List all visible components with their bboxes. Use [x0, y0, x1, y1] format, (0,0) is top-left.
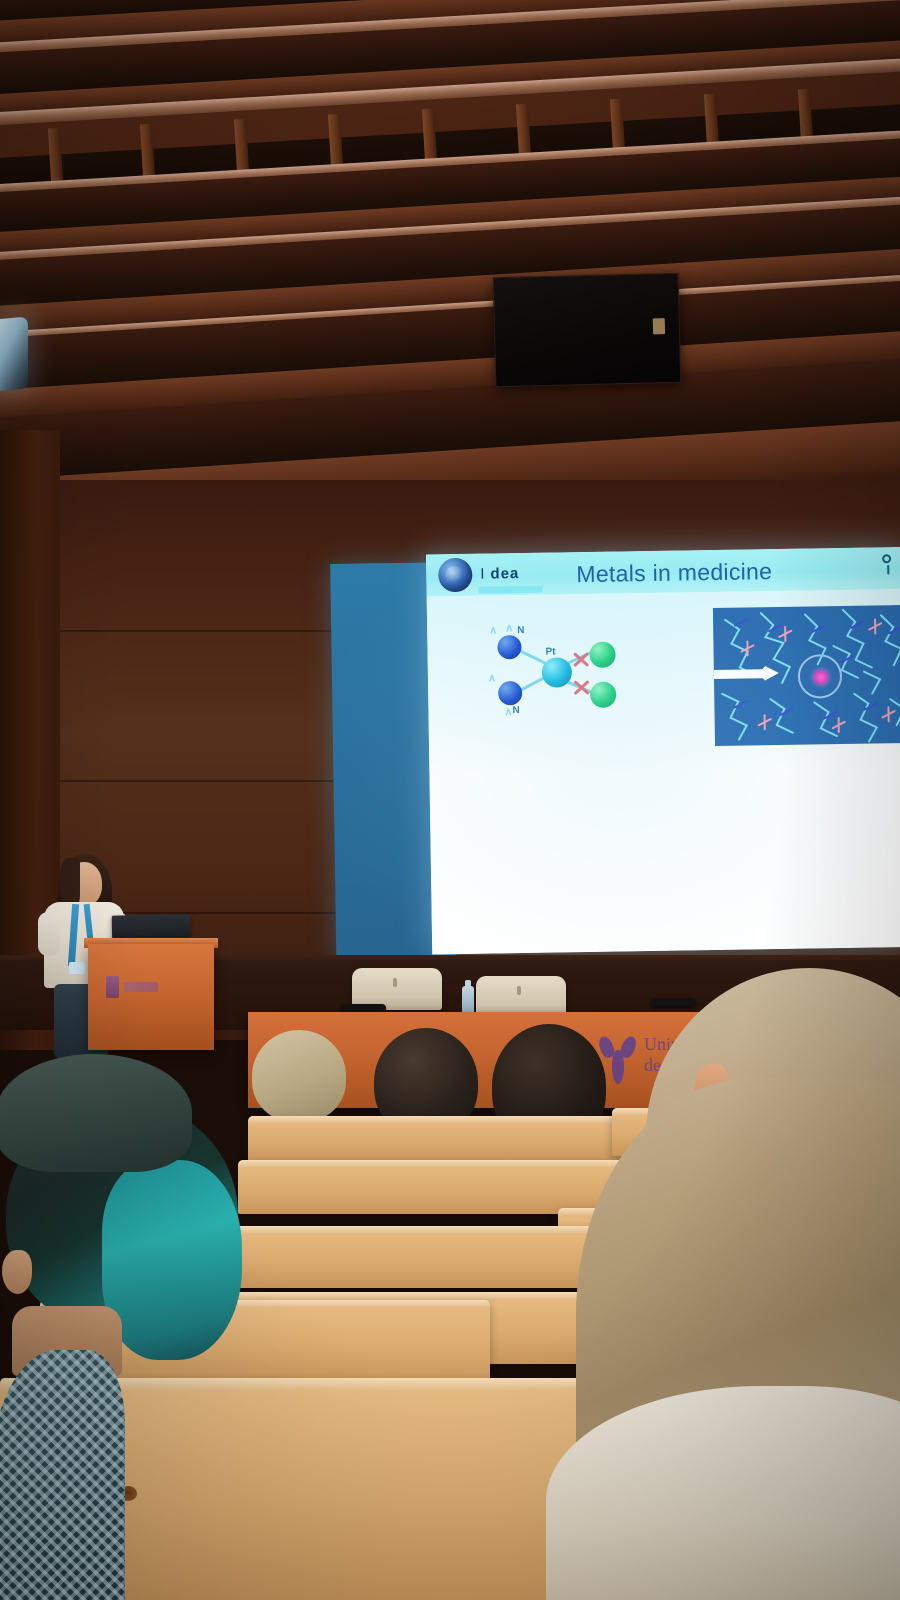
patterned-garment-attendee	[0, 1350, 125, 1600]
ceiling-loudspeaker	[493, 273, 682, 388]
pin-marker-icon	[882, 554, 891, 563]
chloride-atom-2	[590, 682, 616, 708]
blonde-foreground-attendee	[556, 968, 900, 1600]
leaving-group-x-mark-1	[572, 650, 591, 669]
speaker-indicator-icon	[653, 318, 665, 334]
dna-binding-panel	[713, 605, 900, 746]
conference-hall-scene: Idea Metals in medicine ∧	[0, 0, 900, 1600]
microphone-1	[340, 1004, 386, 1012]
presentation-slide: Idea Metals in medicine ∧	[426, 547, 900, 955]
leaving-group-x-mark-2	[572, 678, 591, 697]
institution-logo	[106, 976, 160, 998]
projection-screen: Idea Metals in medicine ∧	[330, 547, 900, 966]
nitrogen-atom-2	[498, 681, 522, 705]
slide-body: ∧ ∧ ∧ ∧ N N Pt	[427, 589, 900, 955]
teal-attendee-crown	[0, 1054, 192, 1172]
platinum-label: Pt	[545, 646, 555, 657]
podium	[88, 944, 214, 1050]
presenter-sleeve-left	[38, 912, 60, 956]
blonde-attendee-head	[252, 1030, 346, 1122]
slide-title: Metals in medicine	[426, 556, 900, 591]
nitrogen-label-1: N	[517, 625, 524, 636]
chloride-atom-1	[589, 642, 615, 668]
presenter-badge	[69, 962, 85, 974]
nitrogen-label-2: N	[512, 705, 519, 716]
cisplatin-molecule-diagram: ∧ ∧ ∧ ∧ N N Pt	[485, 619, 619, 719]
wall-spotlight-icon	[0, 317, 28, 392]
nitrogen-atom-1	[497, 635, 521, 659]
wooden-coffered-ceiling	[0, 0, 900, 560]
slide-header: Idea Metals in medicine	[426, 547, 900, 597]
white-right-arrow-icon	[713, 665, 786, 682]
